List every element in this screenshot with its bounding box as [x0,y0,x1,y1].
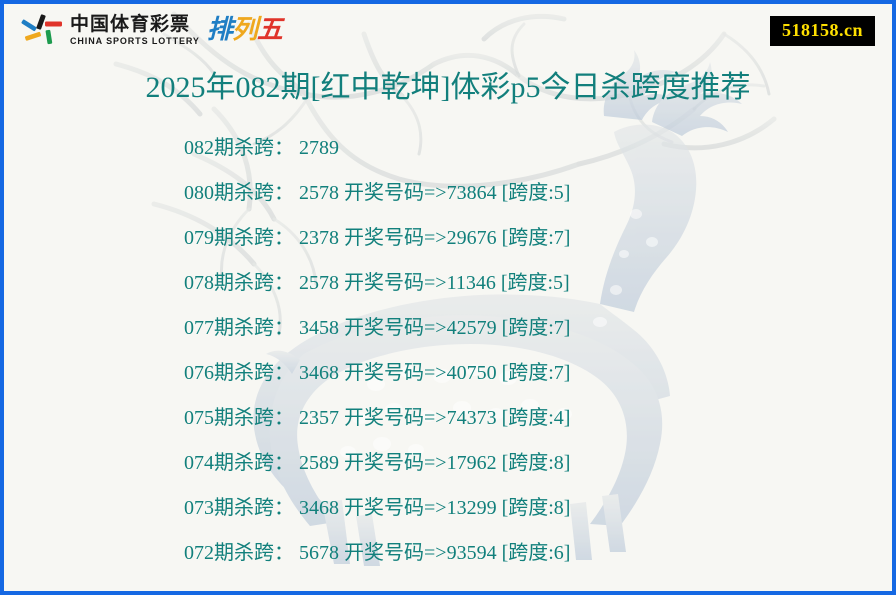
forecast-row: 080期杀跨：2578开奖号码=>73864[跨度:5] [184,171,724,216]
issue-label: 076期杀跨： [184,362,294,384]
kill-numbers: 2789 [299,137,339,159]
issue-label: 079期杀跨： [184,227,294,249]
brand-name-en: CHINA SPORTS LOTTERY [70,37,200,46]
issue-label: 075期杀跨： [184,407,294,429]
kill-numbers: 5678 [299,542,339,564]
draw-label: 开奖号码=> [344,362,447,384]
draw-label: 开奖号码=> [344,542,447,564]
draw-numbers: 40750 [447,362,497,384]
product-name-pailiewu: 排列五 [207,17,282,43]
page-title: 2025年082期[红中乾坤]体彩p5今日杀跨度推荐 [4,62,892,106]
kill-numbers: 3468 [299,362,339,384]
span-label: [跨度:5] [501,272,570,294]
kill-numbers: 2378 [299,227,339,249]
forecast-row: 072期杀跨：5678开奖号码=>93594[跨度:6] [184,531,724,576]
issue-label: 077期杀跨： [184,317,294,339]
forecast-row: 078期杀跨：2578开奖号码=>11346[跨度:5] [184,261,724,306]
issue-label: 080期杀跨： [184,182,294,204]
site-url-badge: 518158.cn [770,16,875,46]
draw-label: 开奖号码=> [344,227,447,249]
draw-label: 开奖号码=> [344,317,447,339]
draw-numbers: 93594 [447,542,497,564]
span-label: [跨度:8] [502,497,571,519]
issue-label: 082期杀跨： [184,137,294,159]
forecast-row: 075期杀跨：2357开奖号码=>74373[跨度:4] [184,396,724,441]
draw-numbers: 73864 [447,182,497,204]
issue-label: 072期杀跨： [184,542,294,564]
span-label: [跨度:6] [502,542,571,564]
forecast-list: 082期杀跨：2789 080期杀跨：2578开奖号码=>73864[跨度:5]… [184,126,724,576]
draw-label: 开奖号码=> [344,497,447,519]
issue-label: 073期杀跨： [184,497,294,519]
brand-logo[interactable]: 中国体育彩票 CHINA SPORTS LOTTERY 排列五 [18,10,282,50]
product-char-3: 五 [257,15,282,45]
kill-numbers: 3468 [299,497,339,519]
span-label: [跨度:5] [502,182,571,204]
draw-label: 开奖号码=> [344,272,447,294]
lottery-forecast-page: 中国体育彩票 CHINA SPORTS LOTTERY 排列五 518158.c… [0,0,896,595]
issue-label: 078期杀跨： [184,272,294,294]
draw-numbers: 29676 [447,227,497,249]
draw-label: 开奖号码=> [344,407,447,429]
span-label: [跨度:8] [502,452,571,474]
span-label: [跨度:4] [502,407,571,429]
kill-numbers: 2578 [299,182,339,204]
span-label: [跨度:7] [502,362,571,384]
span-label: [跨度:7] [502,317,571,339]
forecast-row: 074期杀跨：2589开奖号码=>17962[跨度:8] [184,441,724,486]
draw-label: 开奖号码=> [344,452,447,474]
kill-numbers: 2589 [299,452,339,474]
draw-numbers: 74373 [447,407,497,429]
china-sports-lottery-pinwheel-icon [18,13,64,47]
draw-numbers: 13299 [447,497,497,519]
forecast-row: 079期杀跨：2378开奖号码=>29676[跨度:7] [184,216,724,261]
kill-numbers: 3458 [299,317,339,339]
kill-numbers: 2578 [299,272,339,294]
draw-numbers: 11346 [447,272,496,294]
kill-numbers: 2357 [299,407,339,429]
forecast-row: 076期杀跨：3468开奖号码=>40750[跨度:7] [184,351,724,396]
brand-name-cn: 中国体育彩票 [70,15,200,34]
product-char-2: 列 [232,15,257,45]
brand-wordmark: 中国体育彩票 CHINA SPORTS LOTTERY [70,15,200,46]
draw-numbers: 17962 [447,452,497,474]
site-header: 中国体育彩票 CHINA SPORTS LOTTERY 排列五 518158.c… [4,4,892,52]
span-label: [跨度:7] [502,227,571,249]
draw-numbers: 42579 [447,317,497,339]
draw-label: 开奖号码=> [344,182,447,204]
forecast-row: 082期杀跨：2789 [184,126,724,171]
forecast-row: 073期杀跨：3468开奖号码=>13299[跨度:8] [184,486,724,531]
issue-label: 074期杀跨： [184,452,294,474]
forecast-row: 077期杀跨：3458开奖号码=>42579[跨度:7] [184,306,724,351]
product-char-1: 排 [207,15,232,45]
